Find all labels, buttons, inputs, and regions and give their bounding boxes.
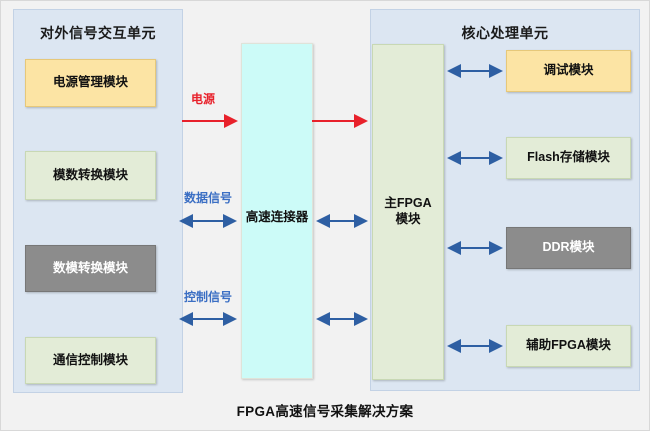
arrow-power-right <box>312 113 374 129</box>
module-label: 通信控制模块 <box>53 353 128 369</box>
right-panel-title: 核心处理单元 <box>370 23 640 43</box>
diagram-caption: FPGA高速信号采集解决方案 <box>1 400 649 420</box>
module-dac[interactable]: 数模转换模块 <box>25 245 156 292</box>
module-label: 主FPGA模块 <box>379 196 437 227</box>
arrow-fpga-flash <box>443 150 509 166</box>
diagram-canvas: 对外信号交互单元 电源管理模块 模数转换模块 数模转换模块 通信控制模块 高速连… <box>0 0 650 431</box>
module-power-management[interactable]: 电源管理模块 <box>25 59 156 107</box>
arrow-fpga-debug <box>443 63 509 79</box>
module-ddr[interactable]: DDR模块 <box>506 227 631 269</box>
signal-label-control: 控制信号 <box>184 288 232 305</box>
module-label: 辅助FPGA模块 <box>526 338 611 354</box>
module-label: 数模转换模块 <box>53 261 128 277</box>
arrow-control-right <box>312 311 374 327</box>
arrow-fpga-aux <box>443 338 509 354</box>
module-flash-storage[interactable]: Flash存储模块 <box>506 137 631 179</box>
high-speed-connector-label: 高速连接器 <box>241 206 313 225</box>
module-label: 电源管理模块 <box>53 75 128 91</box>
module-auxiliary-fpga[interactable]: 辅助FPGA模块 <box>506 325 631 367</box>
arrow-power-left <box>182 113 244 129</box>
module-label: 模数转换模块 <box>53 168 128 184</box>
module-main-fpga[interactable]: 主FPGA模块 <box>372 44 444 380</box>
left-panel-title: 对外信号交互单元 <box>13 23 183 43</box>
arrow-data-right <box>312 213 374 229</box>
arrow-fpga-ddr <box>443 240 509 256</box>
signal-label-power: 电源 <box>191 90 215 107</box>
arrow-control-left <box>175 311 245 327</box>
signal-label-data: 数据信号 <box>184 189 232 206</box>
module-communication-control[interactable]: 通信控制模块 <box>25 337 156 384</box>
module-label: DDR模块 <box>542 240 594 256</box>
module-adc[interactable]: 模数转换模块 <box>25 151 156 200</box>
module-label: Flash存储模块 <box>527 150 610 166</box>
module-debug[interactable]: 调试模块 <box>506 50 631 92</box>
arrow-data-left <box>175 213 245 229</box>
module-label: 调试模块 <box>543 63 593 79</box>
